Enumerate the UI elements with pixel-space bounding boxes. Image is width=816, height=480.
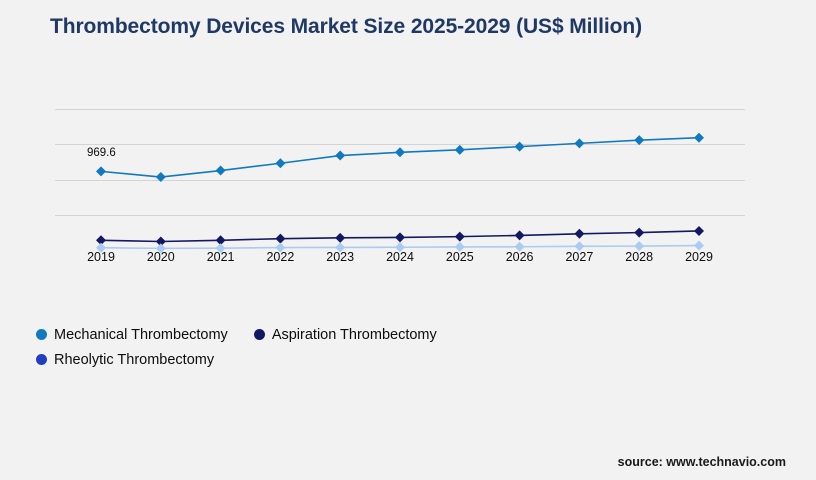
series-marker [515,142,525,152]
x-axis-tick-label: 2024 [386,250,414,264]
x-axis-tick-label: 2026 [506,250,534,264]
series-marker [515,230,525,240]
x-axis-tick-label: 2027 [565,250,593,264]
x-axis-tick-label: 2028 [625,250,653,264]
x-axis-tick-label: 2023 [326,250,354,264]
series-marker [574,229,584,239]
x-axis: 2019202020212022202320242025202620272028… [55,250,745,274]
series-marker [574,138,584,148]
legend-item-aspiration-thrombectomy[interactable]: Aspiration Thrombectomy [254,327,437,343]
chart-title: Thrombectomy Devices Market Size 2025-20… [50,14,750,41]
series-line [101,138,699,177]
legend-marker-icon [36,354,47,365]
x-axis-tick-label: 2019 [87,250,115,264]
series-marker [335,233,345,243]
series-marker [634,228,644,238]
chart-legend: Mechanical Thrombectomy Aspiration Throm… [36,322,776,372]
legend-item-mechanical-thrombectomy[interactable]: Mechanical Thrombectomy [36,327,228,343]
x-axis-tick-label: 2021 [207,250,235,264]
x-axis-tick-label: 2022 [266,250,294,264]
x-axis-tick-label: 2020 [147,250,175,264]
series-marker [96,166,106,176]
source-attribution: source: www.technavio.com [618,455,786,469]
legend-label: Mechanical Thrombectomy [54,327,228,343]
series-marker [335,151,345,161]
legend-item-rheolytic-thrombectomy[interactable]: Rheolytic Thrombectomy [36,352,214,368]
legend-marker-icon [36,329,47,340]
series-marker [395,147,405,157]
series-marker [634,135,644,145]
series-marker [455,232,465,242]
legend-label: Rheolytic Thrombectomy [54,352,214,368]
series-marker [694,133,704,143]
data-point-label: 969.6 [87,147,116,159]
series-marker [455,145,465,155]
x-axis-tick-label: 2025 [446,250,474,264]
series-marker [216,166,226,176]
chart-canvas: Thrombectomy Devices Market Size 2025-20… [0,0,816,480]
series-marker [694,226,704,236]
legend-label: Aspiration Thrombectomy [272,327,437,343]
series-marker [395,232,405,242]
legend-row: Mechanical Thrombectomy Aspiration Throm… [36,322,776,347]
series-marker [156,172,166,182]
series-plot [55,100,745,250]
x-axis-tick-label: 2029 [685,250,713,264]
legend-marker-icon [254,329,265,340]
series-marker [275,234,285,244]
series-marker [275,158,285,168]
legend-row: Rheolytic Thrombectomy [36,347,776,372]
plot-area [55,100,745,250]
